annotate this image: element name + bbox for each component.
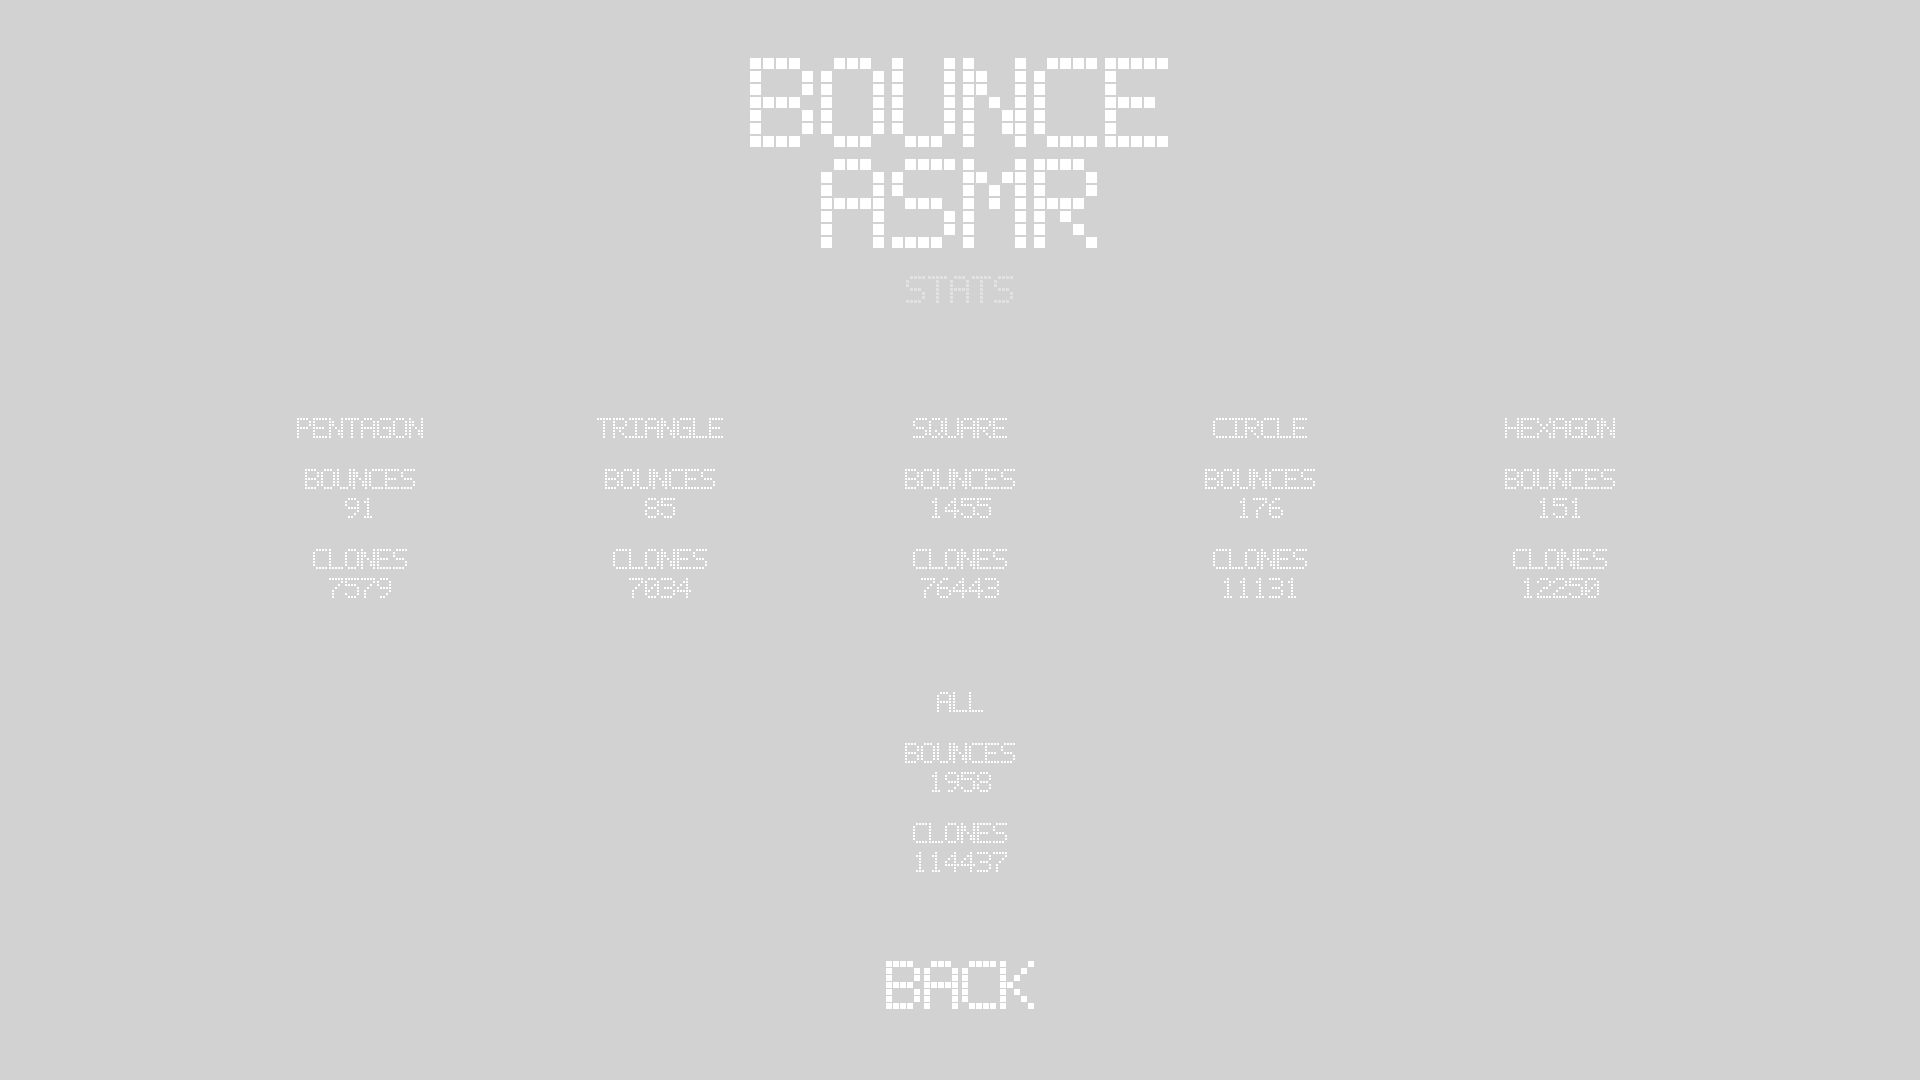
glyph: [321, 469, 336, 490]
glyph: [677, 549, 692, 570]
glyph: [361, 549, 376, 570]
glyph: [937, 743, 952, 764]
glyph: [1569, 418, 1584, 439]
glyph: [961, 498, 976, 519]
clones-label-circle: [1213, 549, 1308, 570]
glyph: [892, 58, 957, 149]
glyph: [969, 578, 984, 599]
glyph: [905, 469, 920, 490]
glyph: [953, 692, 968, 713]
glyph: [921, 743, 936, 764]
clones-group-all: [913, 823, 1008, 873]
stat-column-square: [810, 418, 1110, 599]
glyph: [605, 469, 620, 490]
clones-group-pentagon: [313, 549, 408, 599]
glyph: [928, 276, 948, 304]
glyph: [1000, 961, 1035, 1010]
game-title-line-1: [750, 58, 1170, 149]
bounces-value-hexagon: [1537, 498, 1584, 519]
bounces-group-pentagon: [305, 469, 416, 519]
glyph: [653, 469, 668, 490]
glyph: [637, 469, 652, 490]
bounces-group-hexagon: [1505, 469, 1616, 519]
stats-screen: [0, 0, 1920, 1080]
glyph: [1585, 578, 1600, 599]
glyph: [945, 418, 960, 439]
glyph: [953, 578, 968, 599]
glyph: [1553, 578, 1568, 599]
glyph: [377, 549, 392, 570]
page-subtitle: [906, 276, 1014, 304]
glyph: [677, 578, 692, 599]
glyph: [361, 498, 376, 519]
glyph: [961, 418, 976, 439]
glyph: [329, 578, 344, 599]
glyph: [1253, 469, 1268, 490]
glyph: [985, 743, 1000, 764]
glyph: [1521, 418, 1536, 439]
glyph: [1561, 549, 1576, 570]
glyph: [1213, 418, 1228, 439]
glyph: [613, 549, 628, 570]
glyph: [645, 418, 660, 439]
glyph: [750, 58, 815, 149]
glyph: [1253, 498, 1268, 519]
shape-title-square: [913, 418, 1008, 439]
glyph: [977, 498, 992, 519]
bounces-value-triangle: [645, 498, 676, 519]
clones-value-pentagon: [329, 578, 392, 599]
glyph: [994, 276, 1014, 304]
glyph: [1553, 498, 1568, 519]
clones-label-square: [913, 549, 1008, 570]
glyph: [661, 418, 676, 439]
glyph: [661, 578, 676, 599]
glyph: [913, 852, 928, 873]
bounces-group-all: [905, 743, 1016, 793]
glyph: [1569, 498, 1584, 519]
glyph: [977, 549, 992, 570]
bounces-label-triangle: [605, 469, 716, 490]
glyph: [1553, 469, 1568, 490]
glyph: [985, 578, 1000, 599]
glyph: [645, 498, 660, 519]
clones-value-hexagon: [1521, 578, 1600, 599]
back-button[interactable]: [872, 955, 1049, 1004]
bounces-group-triangle: [605, 469, 716, 519]
glyph: [929, 823, 944, 844]
glyph: [929, 549, 944, 570]
glyph: [645, 578, 660, 599]
glyph: [906, 276, 926, 304]
glyph: [821, 58, 886, 149]
glyph: [329, 549, 344, 570]
glyph: [393, 418, 408, 439]
glyph: [1269, 498, 1284, 519]
glyph: [313, 418, 328, 439]
clones-group-hexagon: [1513, 549, 1608, 599]
bounces-group-square: [905, 469, 1016, 519]
glyph: [905, 743, 920, 764]
glyph: [693, 418, 708, 439]
bounces-value-pentagon: [345, 498, 376, 519]
glyph: [345, 549, 360, 570]
glyph: [1261, 418, 1276, 439]
clones-group-square: [913, 549, 1008, 599]
glyph: [677, 418, 692, 439]
clones-group-triangle: [613, 549, 708, 599]
glyph: [661, 549, 676, 570]
glyph: [937, 469, 952, 490]
glyph: [963, 58, 1028, 149]
totals-block: [0, 692, 1920, 873]
glyph: [629, 578, 644, 599]
glyph: [962, 961, 997, 1010]
clones-value-circle: [1221, 578, 1300, 599]
glyph: [929, 498, 944, 519]
glyph: [993, 549, 1008, 570]
glyph: [969, 469, 984, 490]
bounces-label-all: [905, 743, 1016, 764]
glyph: [1537, 469, 1552, 490]
back-button-area: [0, 955, 1920, 1004]
glyph: [401, 469, 416, 490]
glyph: [329, 418, 344, 439]
glyph: [1034, 58, 1099, 149]
glyph: [629, 418, 644, 439]
glyph: [313, 549, 328, 570]
glyph: [961, 772, 976, 793]
glyph: [661, 498, 676, 519]
glyph: [1237, 578, 1252, 599]
glyph: [945, 852, 960, 873]
bounces-label-hexagon: [1505, 469, 1616, 490]
glyph: [353, 469, 368, 490]
glyph: [621, 469, 636, 490]
glyph: [1261, 549, 1276, 570]
glyph: [913, 823, 928, 844]
glyph: [1529, 549, 1544, 570]
glyph: [361, 578, 376, 599]
glyph: [963, 159, 1028, 250]
glyph: [1601, 469, 1616, 490]
clones-value-all: [913, 852, 1008, 873]
glyph: [937, 578, 952, 599]
glyph: [993, 852, 1008, 873]
glyph: [701, 469, 716, 490]
glyph: [1593, 549, 1608, 570]
glyph: [1205, 469, 1220, 490]
glyph: [821, 159, 886, 250]
glyph: [886, 961, 921, 1010]
clones-label-pentagon: [313, 549, 408, 570]
glyph: [961, 852, 976, 873]
glyph: [921, 469, 936, 490]
glyph: [972, 276, 992, 304]
shape-title-pentagon: [297, 418, 424, 439]
glyph: [1034, 159, 1099, 250]
glyph: [597, 418, 612, 439]
shape-title-circle: [1213, 418, 1308, 439]
glyph: [1505, 418, 1520, 439]
glyph: [1293, 418, 1308, 439]
stat-column-circle: [1110, 418, 1410, 599]
glyph: [361, 418, 376, 439]
bounces-group-circle: [1205, 469, 1316, 519]
glyph: [1269, 578, 1284, 599]
glyph: [1505, 469, 1520, 490]
game-title-line-2: [821, 159, 1099, 250]
glyph: [305, 469, 320, 490]
glyph: [929, 418, 944, 439]
shape-title-hexagon: [1505, 418, 1616, 439]
glyph: [961, 549, 976, 570]
glyph: [1237, 469, 1252, 490]
glyph: [345, 418, 360, 439]
glyph: [977, 823, 992, 844]
clones-value-square: [921, 578, 1000, 599]
glyph: [1585, 469, 1600, 490]
stat-column-pentagon: [210, 418, 510, 599]
clones-label-all: [913, 823, 1008, 844]
glyph: [953, 743, 968, 764]
glyph: [950, 276, 970, 304]
glyph: [1521, 469, 1536, 490]
clones-value-triangle: [629, 578, 692, 599]
glyph: [613, 418, 628, 439]
glyph: [1221, 469, 1236, 490]
bounces-label-pentagon: [305, 469, 416, 490]
glyph: [1001, 743, 1016, 764]
bounces-value-all: [929, 772, 992, 793]
glyph: [985, 469, 1000, 490]
glyph: [1293, 549, 1308, 570]
totals-title: [937, 692, 984, 713]
glyph: [1537, 578, 1552, 599]
glyph: [929, 772, 944, 793]
glyph: [993, 823, 1008, 844]
glyph: [1229, 418, 1244, 439]
glyph: [1285, 469, 1300, 490]
glyph: [1277, 418, 1292, 439]
glyph: [669, 469, 684, 490]
glyph: [1221, 578, 1236, 599]
clones-label-hexagon: [1513, 549, 1608, 570]
glyph: [1245, 418, 1260, 439]
glyph: [369, 469, 384, 490]
glyph: [929, 852, 944, 873]
glyph: [1569, 469, 1584, 490]
glyph: [1245, 549, 1260, 570]
glyph: [1213, 549, 1228, 570]
glyph: [1237, 498, 1252, 519]
glyph: [953, 469, 968, 490]
glyph: [409, 418, 424, 439]
stat-column-triangle: [510, 418, 810, 599]
glyph: [377, 418, 392, 439]
glyph: [945, 772, 960, 793]
glyph: [1537, 498, 1552, 519]
stat-column-hexagon: [1410, 418, 1710, 599]
glyph: [937, 692, 952, 713]
glyph: [709, 418, 724, 439]
bounces-value-circle: [1237, 498, 1284, 519]
glyph: [1269, 469, 1284, 490]
glyph: [337, 469, 352, 490]
glyph: [1001, 469, 1016, 490]
glyph: [1545, 549, 1560, 570]
glyph: [977, 418, 992, 439]
glyph: [1277, 549, 1292, 570]
clones-label-triangle: [613, 549, 708, 570]
glyph: [645, 549, 660, 570]
glyph: [1105, 58, 1170, 149]
glyph: [345, 498, 360, 519]
glyph: [693, 549, 708, 570]
glyph: [1301, 469, 1316, 490]
glyph: [993, 418, 1008, 439]
glyph: [385, 469, 400, 490]
glyph: [921, 578, 936, 599]
glyph: [969, 743, 984, 764]
glyph: [945, 549, 960, 570]
glyph: [1285, 578, 1300, 599]
glyph: [685, 469, 700, 490]
glyph: [945, 823, 960, 844]
glyph: [945, 498, 960, 519]
title-block: [0, 58, 1920, 304]
glyph: [297, 418, 312, 439]
glyph: [924, 961, 959, 1010]
glyph: [1601, 418, 1616, 439]
glyph: [1569, 578, 1584, 599]
glyph: [345, 578, 360, 599]
glyph: [629, 549, 644, 570]
shape-stats-row: [0, 418, 1920, 599]
bounces-label-square: [905, 469, 1016, 490]
glyph: [913, 549, 928, 570]
glyph: [1253, 578, 1268, 599]
glyph: [1513, 549, 1528, 570]
glyph: [1521, 578, 1536, 599]
glyph: [377, 578, 392, 599]
glyph: [977, 772, 992, 793]
glyph: [961, 823, 976, 844]
glyph: [1577, 549, 1592, 570]
bounces-value-square: [929, 498, 992, 519]
glyph: [393, 549, 408, 570]
glyph: [1585, 418, 1600, 439]
glyph: [1553, 418, 1568, 439]
bounces-label-circle: [1205, 469, 1316, 490]
glyph: [913, 418, 928, 439]
clones-group-circle: [1213, 549, 1308, 599]
glyph: [892, 159, 957, 250]
glyph: [1537, 418, 1552, 439]
glyph: [969, 692, 984, 713]
glyph: [977, 852, 992, 873]
shape-title-triangle: [597, 418, 724, 439]
glyph: [1229, 549, 1244, 570]
